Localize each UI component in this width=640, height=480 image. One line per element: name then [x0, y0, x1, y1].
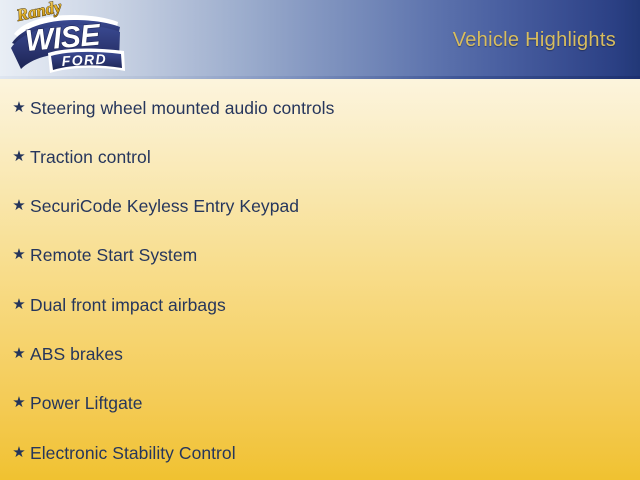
star-bullet-icon: ★ [8, 395, 30, 410]
randy-wise-ford-logo: WISE Randy FORD [6, 1, 134, 77]
svg-text:FORD: FORD [61, 51, 107, 69]
list-item-label: Remote Start System [30, 242, 197, 268]
star-bullet-icon: ★ [8, 149, 30, 164]
logo-graphic: WISE Randy FORD [6, 1, 134, 77]
list-item: ★ Steering wheel mounted audio controls [8, 95, 334, 121]
list-item: ★ ABS brakes [8, 341, 123, 367]
list-item: ★ SecuriCode Keyless Entry Keypad [8, 193, 299, 219]
star-bullet-icon: ★ [8, 198, 30, 213]
list-item: ★ Remote Start System [8, 242, 197, 268]
star-bullet-icon: ★ [8, 100, 30, 115]
page-title: Vehicle Highlights [453, 29, 616, 52]
list-item: ★ Electronic Stability Control [8, 440, 236, 466]
star-bullet-icon: ★ [8, 297, 30, 312]
star-bullet-icon: ★ [8, 346, 30, 361]
list-item-label: Steering wheel mounted audio controls [30, 95, 334, 121]
list-item: ★ Dual front impact airbags [8, 292, 226, 318]
star-bullet-icon: ★ [8, 247, 30, 262]
star-bullet-icon: ★ [8, 445, 30, 460]
list-item: ★ Traction control [8, 144, 151, 170]
list-item-label: ABS brakes [30, 341, 123, 367]
vehicle-highlights-slide: WISE Randy FORD Vehicle Highlights ★ [0, 0, 640, 480]
vehicle-highlights-list: ★ Steering wheel mounted audio controls … [0, 79, 640, 480]
list-item-label: Power Liftgate [30, 390, 143, 416]
list-item-label: SecuriCode Keyless Entry Keypad [30, 193, 299, 219]
header-bar: WISE Randy FORD Vehicle Highlights [0, 0, 640, 79]
list-item-label: Traction control [30, 144, 151, 170]
logo-ford-banner: FORD [48, 49, 125, 73]
list-item: ★ Power Liftgate [8, 390, 143, 416]
list-item-label: Electronic Stability Control [30, 440, 236, 466]
list-item-label: Dual front impact airbags [30, 292, 226, 318]
